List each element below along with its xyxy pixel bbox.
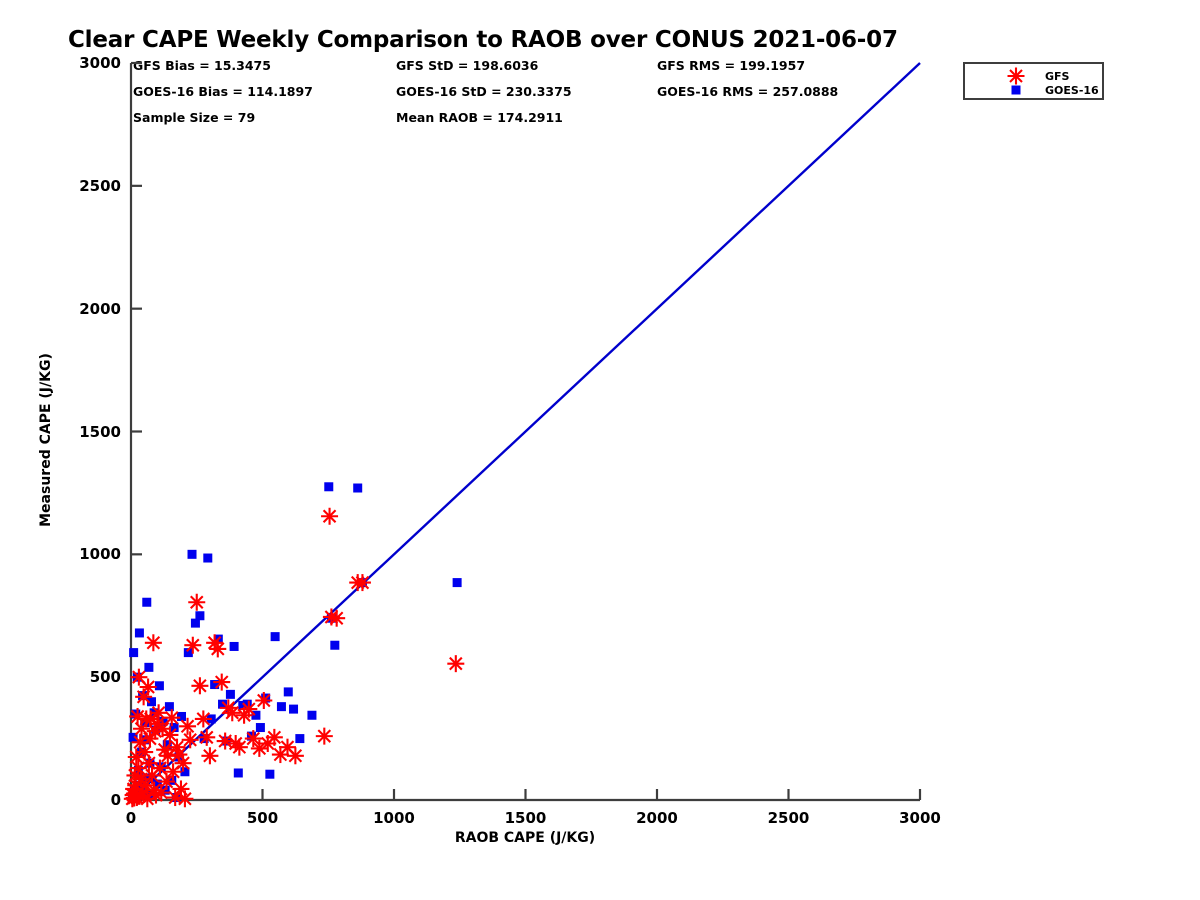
- series-gfs-points: [124, 508, 464, 808]
- reference-line-1to1: [131, 63, 920, 800]
- x-tick-label: 1000: [373, 809, 415, 827]
- scatter-plot-canvas: [0, 0, 1200, 900]
- legend-entry-gfs[interactable]: GFS: [1045, 70, 1069, 83]
- x-tick-label: 1500: [505, 809, 547, 827]
- x-tick-label: 3000: [899, 809, 941, 827]
- y-axis-label: Measured CAPE (J/KG): [38, 290, 54, 590]
- chart-figure: Clear CAPE Weekly Comparison to RAOB ove…: [0, 0, 1200, 900]
- y-tick-label: 0: [41, 791, 121, 809]
- x-tick-label: 2500: [768, 809, 810, 827]
- chart-legend[interactable]: GFSGOES-16: [963, 62, 1104, 100]
- x-tick-label: 500: [247, 809, 278, 827]
- y-tick-label: 500: [41, 668, 121, 686]
- x-tick-label: 2000: [636, 809, 678, 827]
- legend-entry-goes-16[interactable]: GOES-16: [1045, 84, 1099, 97]
- y-tick-label: 3000: [41, 54, 121, 72]
- y-tick-label: 2500: [41, 177, 121, 195]
- x-axis-label: RAOB CAPE (J/KG): [0, 830, 1050, 846]
- x-tick-label: 0: [126, 809, 136, 827]
